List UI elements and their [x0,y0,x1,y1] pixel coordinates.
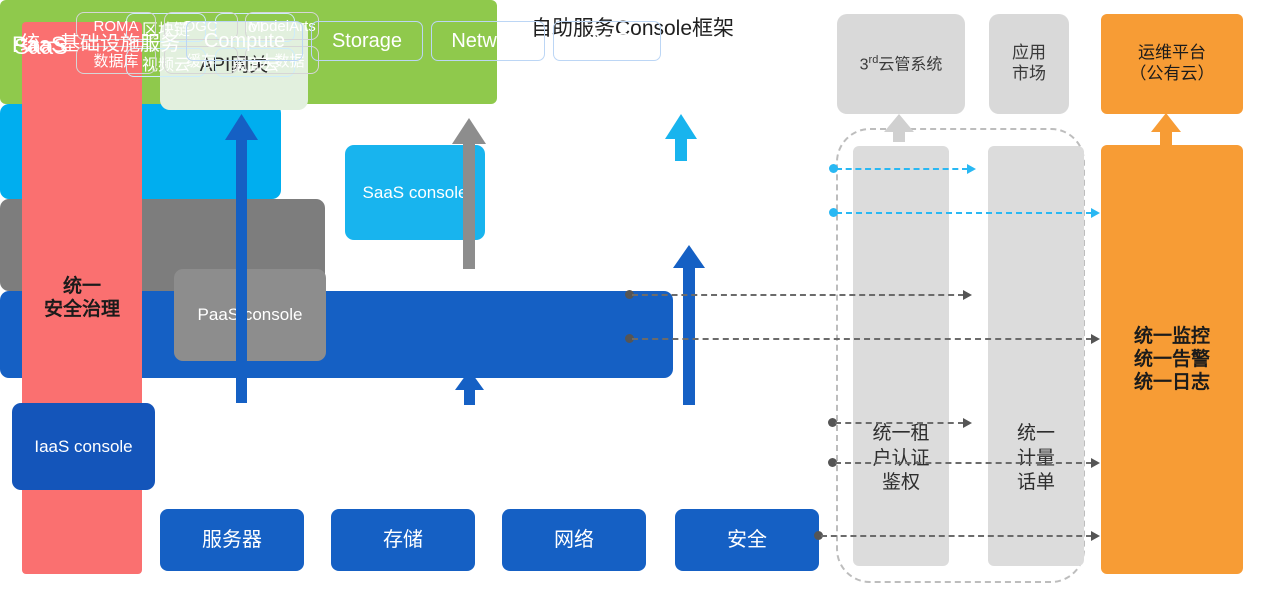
connector-line-hardware-monitoring [821,535,1092,537]
hardware-item-network[interactable]: 网络 [502,509,646,571]
arrow-iaas-to-saas [673,245,705,405]
connector-arrowhead-saas-auth [967,164,976,174]
third-cloud-label: 3rd云管系统 [860,54,943,75]
connector-arrowhead-paas-auth [963,290,972,300]
hardware-item-server[interactable]: 服务器 [160,509,304,571]
ops-platform-label: 运维平台 （公有云） [1130,43,1215,84]
unified-tenant-auth-label: 统一租 户认证 鉴权 [853,422,949,496]
governance-label: 统一 安全治理 [44,275,120,321]
monitoring-label: 统一监控 统一告警 统一日志 [1134,325,1210,395]
connector-line-saas-auth [836,168,968,170]
app-market-box: 应用 市场 [989,14,1069,114]
connector-arrowhead-iaas-auth [963,418,972,428]
connector-line-paas-monitoring [632,338,1092,340]
unified-metering-billing-column: 统一 计量 话单 [988,146,1084,566]
unified-security-governance-panel: 统一 安全治理 [22,22,142,574]
ops-platform-box: 运维平台 （公有云） [1101,14,1243,114]
connector-arrowhead-iaas-monitoring [1091,458,1100,468]
hardware-item-storage[interactable]: 存储 [331,509,475,571]
unified-tenant-auth-column: 统一租 户认证 鉴权 [853,146,949,566]
connector-line-iaas-monitoring [835,462,1092,464]
hardware-item-security[interactable]: 安全 [675,509,819,571]
iaas-item-storage[interactable]: Storage [311,21,423,61]
iaas-item-compute[interactable]: Compute [186,21,303,61]
iaas-item-network[interactable]: Network [431,21,545,61]
iaas-console-button[interactable]: IaaS console [12,403,155,490]
saas-console-button[interactable]: SaaS console [345,145,485,240]
connector-line-iaas-auth [835,422,964,424]
third-party-cloud-mgmt-box: 3rd云管系统 [837,14,965,114]
paas-console-button[interactable]: PaaS console [174,269,326,361]
unified-metering-billing-label: 统一 计量 话单 [988,422,1084,496]
connector-line-saas-monitoring [836,212,1092,214]
app-market-label: 应用 市场 [1012,43,1046,84]
arrow-saas-to-saas-console [665,114,697,161]
connector-arrowhead-paas-monitoring [1091,334,1100,344]
iaas-item-cce[interactable]: CCE [553,21,661,61]
iaas-label: 统一基础设施服务 [20,27,180,56]
connector-line-paas-auth [632,294,964,296]
monitoring-panel: 统一监控 统一告警 统一日志 [1101,145,1243,574]
architecture-diagram: 统一 安全治理 API网关 自助服务Console框架 IaaS console… [0,0,1265,605]
arrow-to-ops-platform [1151,113,1181,146]
connector-arrowhead-hardware-monitoring [1091,531,1100,541]
connector-arrowhead-saas-monitoring [1091,208,1100,218]
